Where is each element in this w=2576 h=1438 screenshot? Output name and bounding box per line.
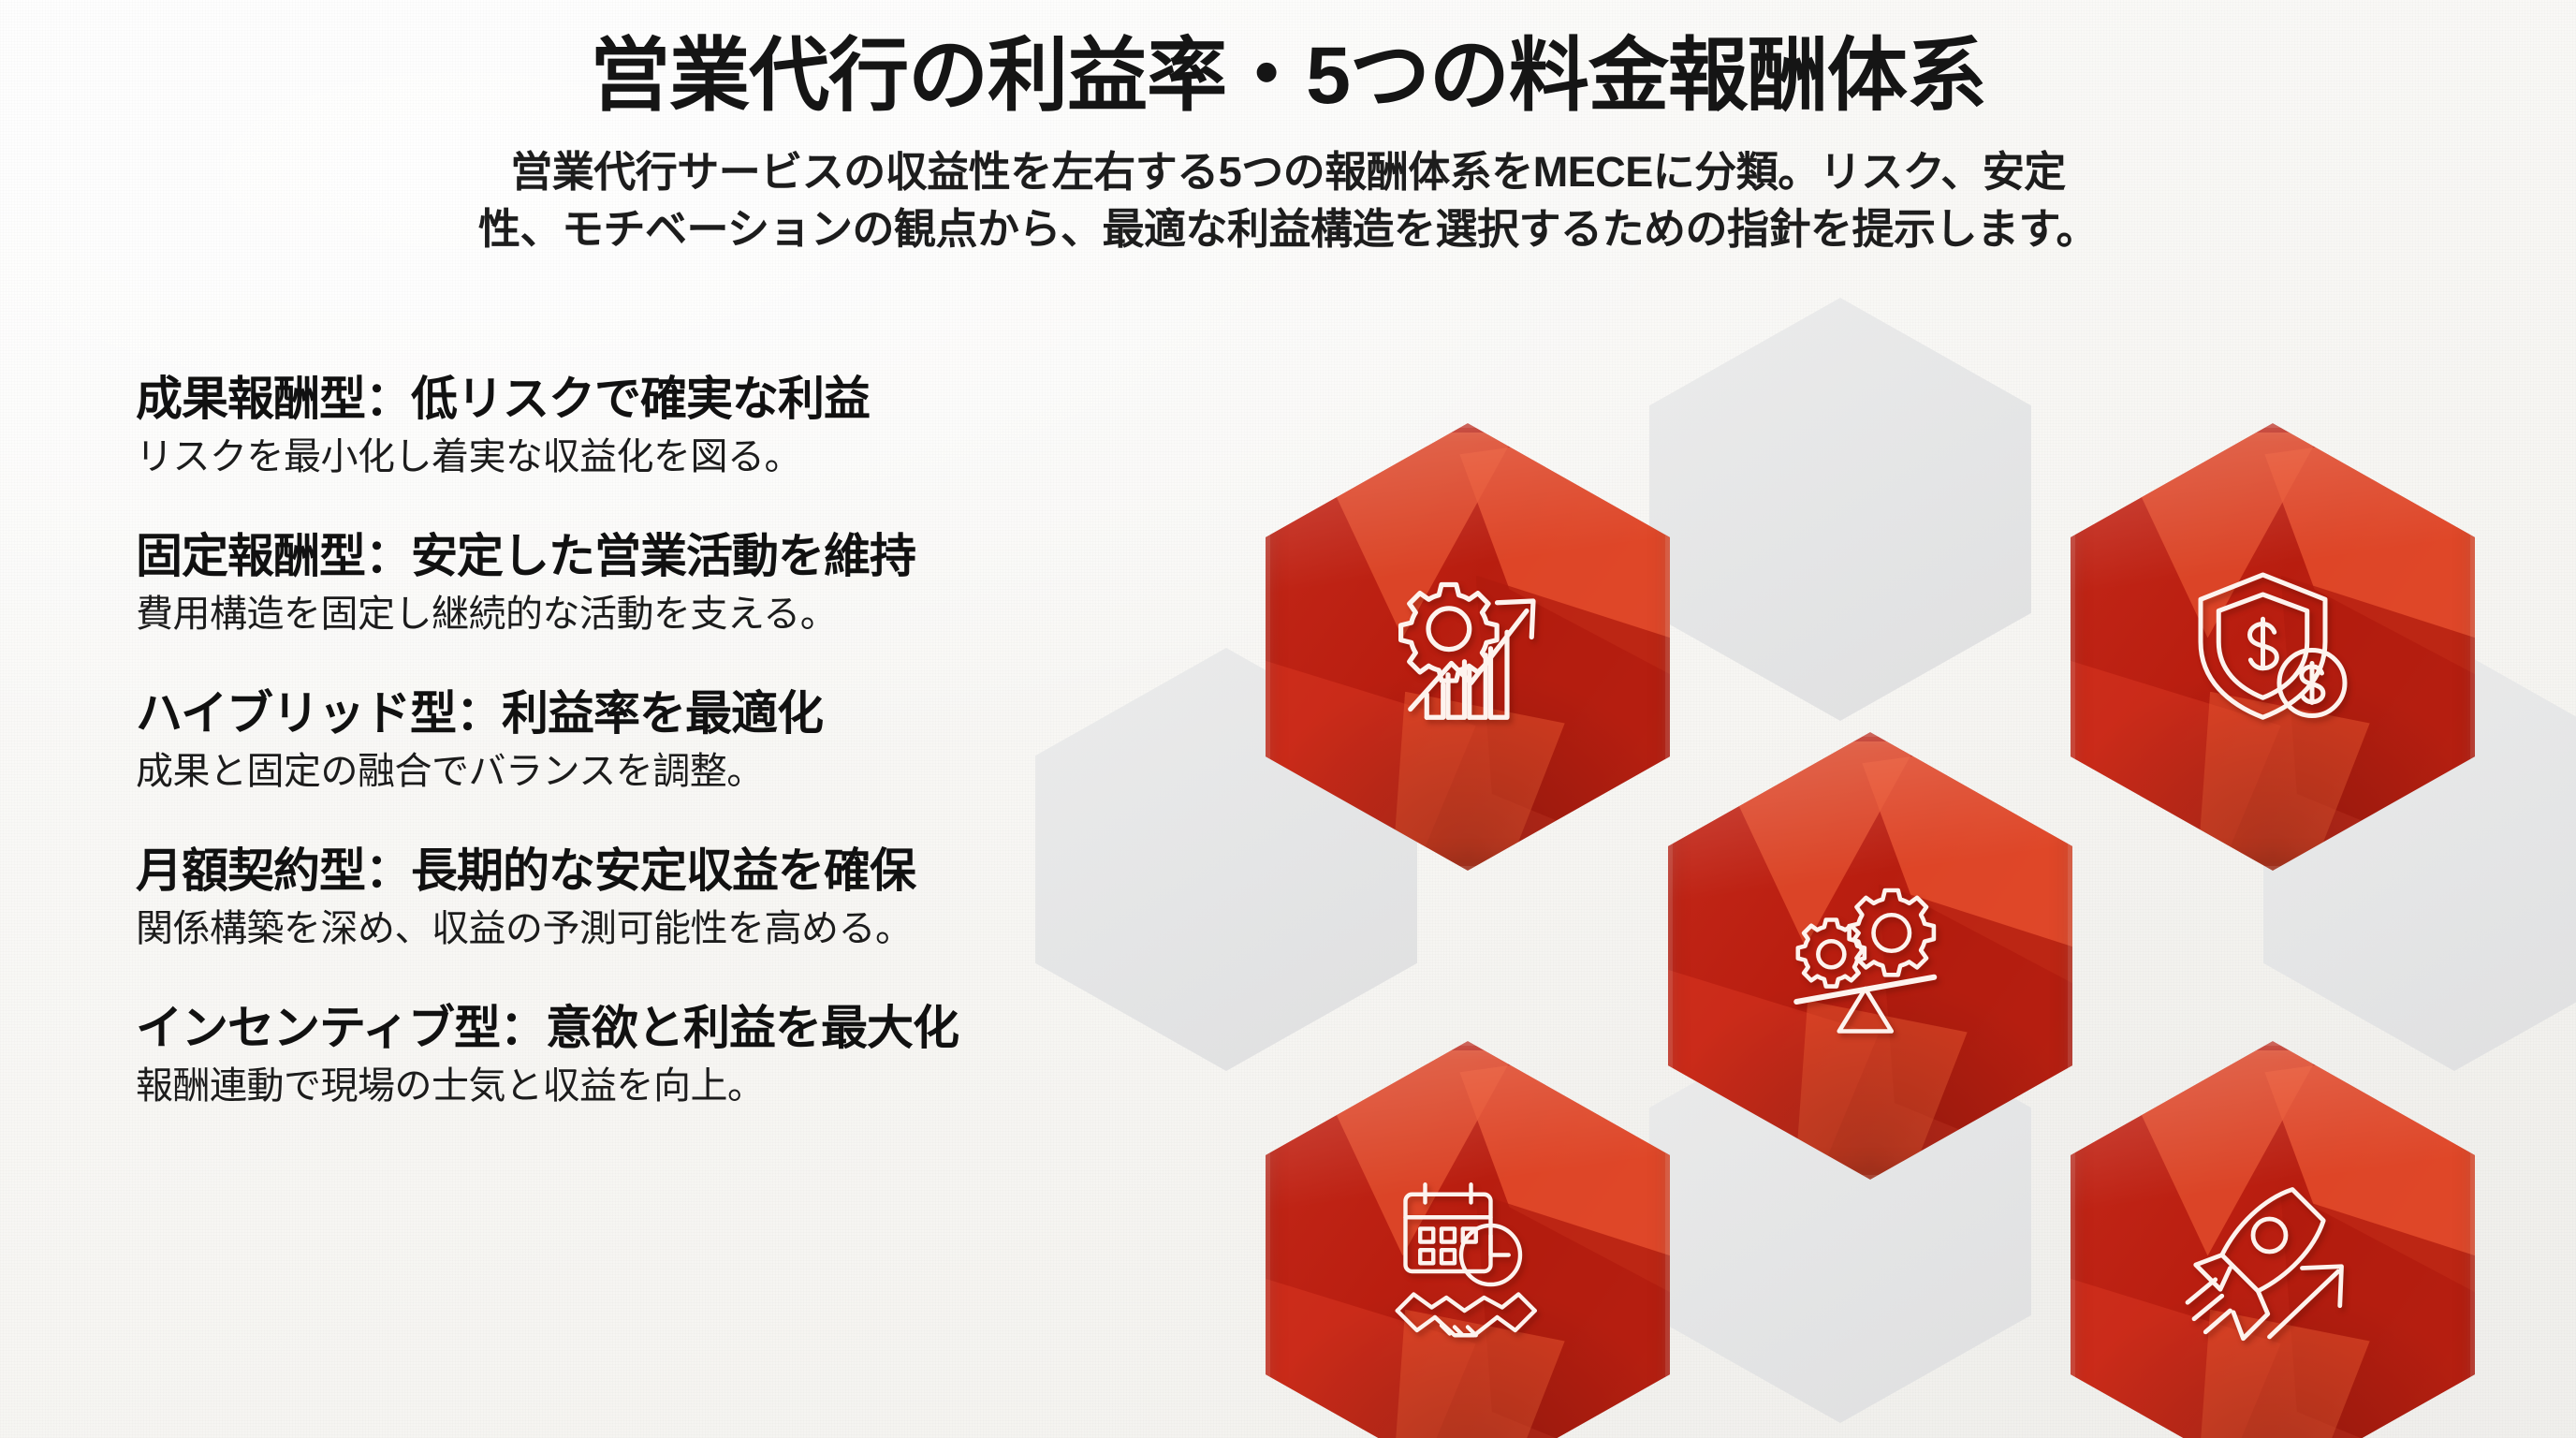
list-item-heading: ハイブリッド型：利益率を最適化 xyxy=(136,687,1203,741)
page-title: 営業代行の利益率・5つの料金報酬体系 xyxy=(0,36,2576,116)
list-item-description: 報酬連動で現場の士気と収益を向上。 xyxy=(136,1064,1203,1108)
page-subtitle-line-2: 性、モチベーションの観点から、最適な利益構造を選択するための指針を提示します。 xyxy=(291,201,2285,258)
list-item-heading: 成果報酬型：低リスクで確実な利益 xyxy=(136,373,1203,426)
hexagon-incentive[interactable] xyxy=(2071,1041,2475,1438)
list-item-incentive: インセンティブ型：意欲と利益を最大化 報酬連動で現場の士気と収益を向上。 xyxy=(136,1002,1203,1108)
page-subtitle-line-1: 営業代行サービスの収益性を左右する5つの報酬体系をMECEに分類。リスク、安定 xyxy=(291,144,2285,201)
list-item-heading: 固定報酬型：安定した営業活動を維持 xyxy=(136,530,1203,583)
calendar-clock-handshake-icon xyxy=(1266,1041,1670,1438)
reward-model-list: 成果報酬型：低リスクで確実な利益 リスクを最小化し着実な収益化を図る。 固定報酬… xyxy=(136,373,1203,1108)
list-item-performance-based: 成果報酬型：低リスクで確実な利益 リスクを最小化し着実な収益化を図る。 xyxy=(136,373,1203,479)
page-subtitle: 営業代行サービスの収益性を左右する5つの報酬体系をMECEに分類。リスク、安定 … xyxy=(291,144,2285,258)
rocket-arrow-up-icon xyxy=(2071,1041,2475,1438)
list-item-heading: インセンティブ型：意欲と利益を最大化 xyxy=(136,1002,1203,1055)
hexagon-cluster xyxy=(1105,281,2576,1438)
ghost-hexagon-top-center xyxy=(1649,298,2031,721)
header: 営業代行の利益率・5つの料金報酬体系 営業代行サービスの収益性を左右する5つの報… xyxy=(0,0,2576,258)
list-item-description: リスクを最小化し着実な収益化を図る。 xyxy=(136,434,1203,479)
list-item-fixed-fee: 固定報酬型：安定した営業活動を維持 費用構造を固定し継続的な活動を支える。 xyxy=(136,530,1203,637)
hexagon-monthly-contract[interactable] xyxy=(1266,1041,1670,1438)
list-item-description: 費用構造を固定し継続的な活動を支える。 xyxy=(136,592,1203,637)
